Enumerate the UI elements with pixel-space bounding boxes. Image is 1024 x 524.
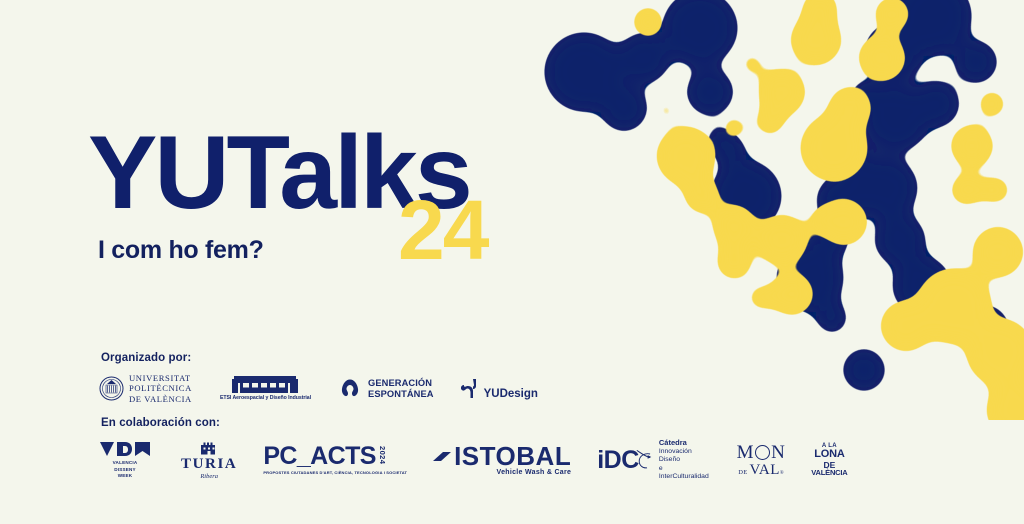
istobal-row: ISTOBAL (433, 444, 571, 469)
generacion-line-2: ESPONTÁNEA (368, 389, 434, 400)
turia-castle-icon (200, 441, 218, 456)
vdw-cap-1: VALENCIA (113, 460, 138, 466)
idc-text-block: Cátedra Innovación Diseño e InterCultura… (659, 438, 711, 481)
idc-line-2: Innovación Diseño (659, 448, 711, 465)
monval-row-2: DE VAL ® (738, 462, 783, 479)
collaborators-heading: En colaboración con: (101, 417, 799, 429)
istobal-sublabel: Vehicle Wash & Care (497, 469, 572, 476)
monval-m: M (737, 442, 754, 464)
idc-line-1: Cátedra (659, 438, 711, 447)
etsi-building-icon (232, 376, 298, 393)
yudesign-label: YUDesign (484, 388, 538, 401)
generacion-wordmark: GENERACIÓN ESPONTÁNEA (368, 378, 434, 400)
vdw-cap-2: DISSENY (113, 467, 138, 473)
upv-seal-icon (99, 376, 124, 401)
turia-sublabel: Ribera (200, 473, 218, 480)
istobal-label: ISTOBAL (454, 444, 571, 469)
vdw-mark-icon (99, 441, 151, 458)
title-line: YUTalks 24 (88, 126, 470, 222)
title-year: 24 (398, 188, 487, 272)
pcacts-label: PC_ACTS (263, 445, 376, 469)
lona-line-2: LONA (814, 449, 844, 460)
organizers-logo-row: UNIVERSITAT POLITÈCNICA DE VALÈNCIA (99, 373, 799, 404)
idc-mark-icon (632, 447, 656, 473)
monval-registered-mark: ® (780, 471, 784, 476)
logo-a-la-lona-de-valencia: A LA LONA DE VALÈNCIA (811, 443, 847, 477)
title-block: YUTalks 24 I com ho fem? (88, 126, 470, 265)
turia-label: TURIA (181, 457, 237, 472)
vdw-cap-3: WEEK (113, 473, 138, 479)
organizers-group: Organizado por: UNIVERSITAT POLITÈCNICA (99, 352, 799, 404)
logo-istobal: ISTOBAL Vehicle Wash & Care (433, 444, 571, 477)
logo-pc-acts: PC_ACTS 2024 PROPOSTES CIUTADANES D'ART,… (263, 445, 407, 476)
vdw-caption: VALENCIA DISSENY WEEK (113, 460, 138, 479)
blob-group-navy (544, 0, 1010, 392)
upv-line-2: POLITÈCNICA (129, 383, 192, 393)
monval-n: N (771, 442, 785, 464)
yudesign-mark-icon (460, 377, 482, 401)
logo-idc-catedra: iDC Cátedra Innovación Diseño e InterCul… (597, 438, 710, 481)
logo-valencia-disseny-week: VALENCIA DISSENY WEEK (99, 441, 151, 479)
generacion-line-1: GENERACIÓN (368, 378, 434, 389)
monval-de: DE (738, 469, 747, 476)
monval-o-ring (755, 445, 770, 460)
pcacts-sublabel: PROPOSTES CIUTADANES D'ART, CIÈNCIA, TEC… (263, 470, 407, 475)
logo-mon-de-val: M N DE VAL ® (737, 442, 786, 479)
upv-wordmark: UNIVERSITAT POLITÈCNICA DE VALÈNCIA (129, 373, 192, 404)
logo-yudesign: YUDesign (460, 377, 538, 401)
monval-row-1: M N (737, 442, 786, 464)
poster-canvas: YUTalks 24 I com ho fem? Organizado por: (0, 0, 1024, 524)
credits-section: Organizado por: UNIVERSITAT POLITÈCNICA (99, 352, 799, 495)
collaborators-logo-row: VALENCIA DISSENY WEEK (99, 438, 799, 481)
organizers-heading: Organizado por: (101, 352, 799, 364)
logo-turia: TURIA Ribera (181, 441, 237, 480)
monval-val: VAL (750, 462, 780, 479)
logo-universitat-politecnica-de-valencia: UNIVERSITAT POLITÈCNICA DE VALÈNCIA (99, 373, 192, 404)
logo-generacion-espontanea: GENERACIÓN ESPONTÁNEA (337, 378, 434, 400)
collaborators-group: En colaboración con: VALENCIA DISSENY WE… (99, 417, 799, 481)
upv-line-3: DE VALÈNCIA (129, 394, 192, 404)
istobal-swoosh-icon (433, 450, 453, 463)
logo-etsi-aeroespacial: ETSI Aeroespacial y Diseño Industrial (220, 376, 311, 401)
generacion-mask-icon (337, 378, 363, 400)
idc-line-3: e InterCulturalidad (659, 465, 711, 482)
upv-line-1: UNIVERSITAT (129, 373, 192, 383)
etsi-caption: ETSI Aeroespacial y Diseño Industrial (220, 395, 311, 401)
lona-line-4: VALÈNCIA (811, 469, 847, 477)
pcacts-year: 2024 (378, 446, 387, 464)
